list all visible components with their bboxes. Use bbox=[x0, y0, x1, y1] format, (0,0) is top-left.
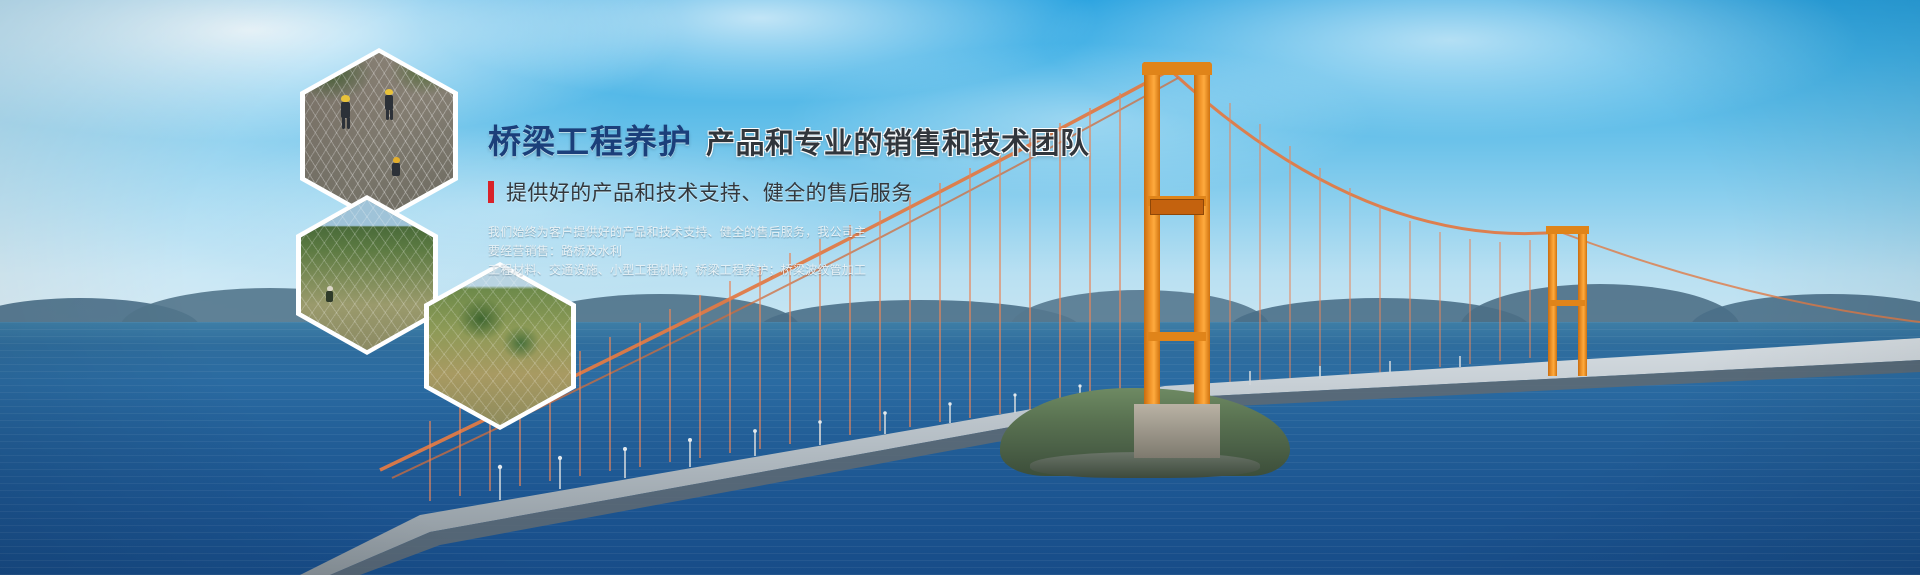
banner-headline: 桥梁工程养护产品和专业的销售和技术团队 bbox=[488, 125, 1008, 159]
headline-sub-text: 产品和专业的销售和技术团队 bbox=[706, 128, 1090, 160]
hex-photo-3[interactable] bbox=[429, 267, 571, 425]
banner-subtitle: 提供好的产品和技术支持、健全的售后服务 bbox=[506, 177, 913, 207]
accent-bar-icon bbox=[488, 181, 494, 203]
paragraph-line-2: 工程材料、交通设施、小型工程机械；桥梁工程养护；桥梁波纹管加工 bbox=[488, 261, 878, 280]
pylon-main-leg-right bbox=[1194, 62, 1210, 406]
headline-main-text: 桥梁工程养护 bbox=[488, 123, 692, 160]
pylon-main-crossbeam-top bbox=[1142, 62, 1212, 75]
worker-2 bbox=[383, 89, 397, 121]
pylon-main-crossbeam-lower bbox=[1148, 332, 1206, 341]
pylon-main-base bbox=[1134, 404, 1220, 458]
paragraph-line-1: 我们始终为客户提供好的产品和技术支持、健全的售后服务，我公司主要经营销售：路桥及… bbox=[488, 223, 878, 261]
worker-1 bbox=[339, 95, 353, 129]
suspension-bridge bbox=[0, 0, 1920, 575]
hero-banner: 桥梁工程养护产品和专业的销售和技术团队 提供好的产品和技术支持、健全的售后服务 … bbox=[0, 0, 1920, 575]
banner-text-block: 桥梁工程养护产品和专业的销售和技术团队 提供好的产品和技术支持、健全的售后服务 … bbox=[488, 125, 1008, 280]
hex-photo-2[interactable] bbox=[301, 200, 433, 350]
hex-photo-1[interactable] bbox=[305, 53, 453, 219]
pylon-far-crossbeam-mid bbox=[1550, 300, 1585, 306]
pylon-far-crossbeam-top bbox=[1546, 226, 1589, 234]
bridge-cables bbox=[0, 0, 1920, 575]
pylon-main-sign bbox=[1150, 199, 1204, 215]
worker-3 bbox=[391, 157, 404, 183]
worker-4 bbox=[325, 286, 336, 310]
banner-subtitle-row: 提供好的产品和技术支持、健全的售后服务 bbox=[488, 177, 1008, 207]
banner-paragraph: 我们始终为客户提供好的产品和技术支持、健全的售后服务，我公司主要经营销售：路桥及… bbox=[488, 223, 878, 280]
pylon-main-leg-left bbox=[1144, 62, 1160, 406]
